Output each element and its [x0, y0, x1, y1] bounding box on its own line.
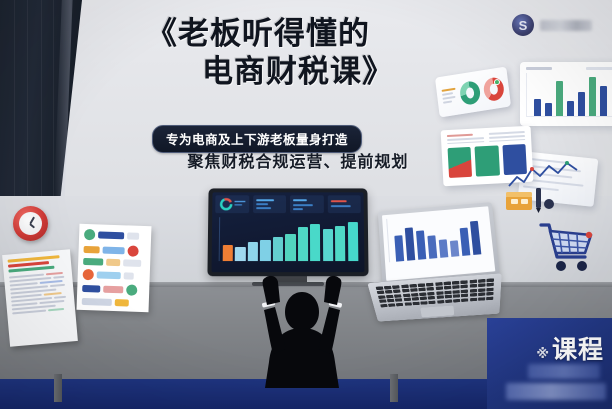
- key[interactable]: [376, 286, 384, 290]
- bar-11: [348, 222, 359, 261]
- bar-7: [600, 86, 607, 116]
- title-line-1: 《老板听得懂的: [78, 16, 438, 54]
- bar-7: [298, 227, 308, 261]
- kpi-trend-widget: [327, 195, 361, 213]
- key[interactable]: [478, 293, 485, 297]
- key[interactable]: [395, 298, 402, 302]
- key[interactable]: [403, 293, 410, 297]
- key[interactable]: [420, 301, 427, 305]
- key[interactable]: [419, 288, 426, 292]
- key[interactable]: [401, 285, 409, 289]
- report-card-header: [447, 131, 525, 144]
- tagline: 聚焦财税合规运营、提前规划: [148, 148, 448, 172]
- key[interactable]: [444, 286, 451, 290]
- bar-6: [589, 77, 596, 116]
- bar-8: [310, 224, 320, 261]
- key[interactable]: [478, 297, 485, 301]
- corner-label: ※课程: [536, 330, 604, 366]
- key[interactable]: [486, 292, 493, 296]
- key[interactable]: [470, 297, 477, 301]
- bar-3: [416, 230, 426, 260]
- kpi-list-widget: [290, 195, 323, 213]
- bar-10: [335, 226, 345, 261]
- key[interactable]: [486, 288, 493, 292]
- monitor-chart-axis: [219, 217, 221, 261]
- corner-label-text: 课程: [552, 335, 604, 364]
- key[interactable]: [384, 286, 392, 290]
- brand-logo: S: [512, 14, 592, 36]
- bar-1: [223, 245, 233, 261]
- key[interactable]: [436, 291, 443, 295]
- key[interactable]: [487, 278, 494, 282]
- laptop-keyboard[interactable]: [376, 278, 494, 307]
- key[interactable]: [402, 289, 410, 293]
- bar-2: [545, 103, 552, 116]
- bar-4: [427, 235, 437, 259]
- key[interactable]: [445, 299, 452, 303]
- key[interactable]: [487, 283, 494, 287]
- key[interactable]: [436, 295, 443, 299]
- bar-1: [394, 235, 404, 262]
- key[interactable]: [452, 285, 459, 289]
- key[interactable]: [394, 294, 401, 298]
- key[interactable]: [437, 300, 444, 304]
- bar-5: [439, 239, 449, 258]
- report-panel: [448, 147, 473, 178]
- key[interactable]: [452, 281, 459, 285]
- page-title: 《老板听得懂的 电商财税课》: [92, 16, 452, 92]
- key[interactable]: [453, 294, 460, 298]
- bar-5: [578, 92, 585, 116]
- red-donut-chart: [482, 76, 505, 102]
- corner-blur-bar-2: [506, 383, 606, 400]
- kpi-donut-widget: [215, 195, 249, 213]
- key[interactable]: [393, 290, 401, 294]
- key[interactable]: [420, 297, 427, 301]
- corner-label-prefix: ※: [536, 347, 550, 362]
- key[interactable]: [386, 295, 394, 299]
- laptop-trackpad[interactable]: [420, 305, 454, 317]
- key[interactable]: [435, 282, 442, 286]
- key[interactable]: [486, 296, 493, 300]
- key[interactable]: [469, 284, 476, 288]
- laptop-bar-chart: [386, 210, 489, 262]
- document-header: [8, 255, 67, 273]
- shopping-cart-icon: [535, 215, 597, 277]
- clock-face: [19, 212, 42, 235]
- key[interactable]: [428, 296, 435, 300]
- bar-3: [556, 81, 563, 116]
- report-panel: [475, 146, 500, 177]
- key[interactable]: [444, 290, 451, 294]
- key[interactable]: [478, 279, 485, 283]
- key[interactable]: [428, 292, 435, 296]
- key[interactable]: [404, 302, 411, 306]
- key[interactable]: [418, 283, 426, 287]
- key[interactable]: [377, 291, 385, 295]
- key[interactable]: [443, 281, 450, 285]
- bar-9: [323, 229, 333, 261]
- kpi-stats-widget: [253, 195, 286, 213]
- card-bar-plot: [526, 73, 612, 117]
- bar-4: [567, 101, 574, 116]
- bar-1: [534, 99, 541, 116]
- laptop: [372, 206, 500, 324]
- bar-8: [470, 220, 481, 255]
- key[interactable]: [403, 298, 410, 302]
- bar-2: [405, 228, 415, 261]
- key[interactable]: [429, 300, 436, 304]
- laptop-base: [367, 273, 501, 321]
- key[interactable]: [453, 290, 460, 294]
- key[interactable]: [461, 294, 468, 298]
- key[interactable]: [380, 304, 387, 307]
- brand-mark-icon: S: [512, 14, 534, 36]
- desk-leg-right: [390, 374, 398, 402]
- desk-clock: [13, 206, 48, 241]
- key[interactable]: [426, 283, 433, 287]
- key[interactable]: [445, 295, 452, 299]
- office-supplies-icon: [500, 182, 558, 216]
- title-line-2: 电商财税课》: [118, 54, 478, 92]
- corner-blur-bar-1: [528, 364, 600, 379]
- monitor-bar-chart: [215, 215, 362, 263]
- key[interactable]: [461, 285, 468, 289]
- key[interactable]: [387, 299, 394, 303]
- key[interactable]: [379, 299, 386, 303]
- key[interactable]: [385, 290, 393, 294]
- bar-6: [450, 240, 459, 257]
- key[interactable]: [392, 285, 400, 289]
- key[interactable]: [478, 284, 485, 288]
- dashboard-bar-card: [520, 62, 612, 126]
- key[interactable]: [453, 299, 460, 303]
- key[interactable]: [378, 295, 386, 299]
- businessman-silhouette: [243, 258, 361, 388]
- key[interactable]: [409, 284, 417, 288]
- key[interactable]: [470, 289, 477, 293]
- key[interactable]: [412, 297, 419, 301]
- status-dot-icon: [494, 78, 501, 85]
- key[interactable]: [435, 287, 442, 291]
- key[interactable]: [469, 280, 476, 284]
- key[interactable]: [461, 280, 468, 284]
- bar-7: [460, 228, 471, 256]
- brand-name-redacted: [540, 20, 592, 31]
- key[interactable]: [478, 288, 485, 292]
- key[interactable]: [412, 301, 419, 305]
- poster-canvas: S 《老板听得懂的 电商财税课》 专为电商及上下游老板量身打造 聚焦财税合规运营…: [0, 0, 612, 409]
- laptop-screen: [382, 206, 495, 281]
- key[interactable]: [461, 298, 468, 302]
- dashboard-widgets: [215, 195, 361, 213]
- desk-infographic-sheet: [77, 224, 152, 312]
- key[interactable]: [388, 303, 395, 307]
- key[interactable]: [396, 303, 403, 307]
- key[interactable]: [470, 293, 477, 297]
- key[interactable]: [419, 292, 426, 296]
- laptop-lid: [378, 202, 500, 285]
- card-header: [526, 67, 612, 70]
- key[interactable]: [461, 289, 468, 293]
- key[interactable]: [410, 288, 417, 292]
- desk-leg-left: [54, 374, 62, 402]
- key[interactable]: [427, 287, 434, 291]
- key[interactable]: [411, 293, 418, 297]
- desk-document-checklist: [2, 249, 78, 347]
